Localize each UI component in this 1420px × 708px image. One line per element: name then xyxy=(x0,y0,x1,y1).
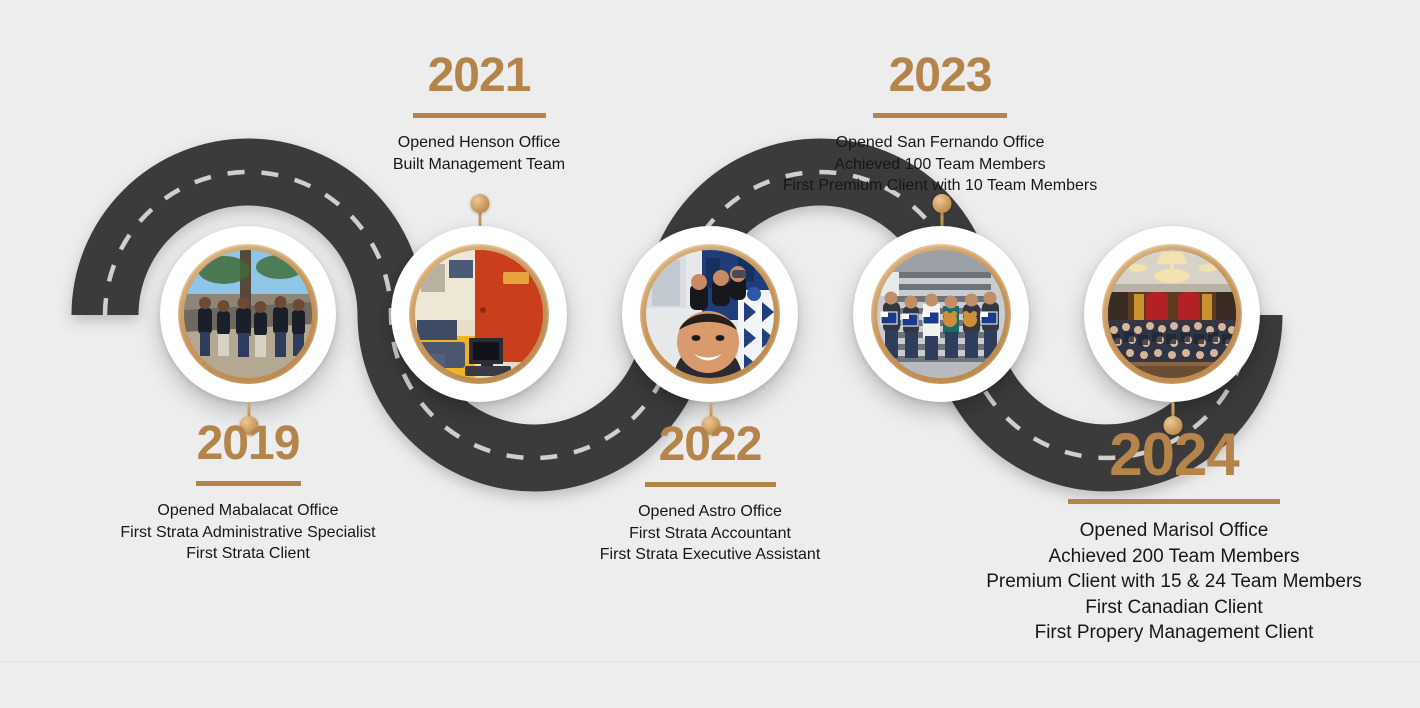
milestone-label-2021: 2021 Opened Henson Office Built Manageme… xyxy=(328,52,630,175)
milestone-node-2022 xyxy=(622,226,798,402)
year-underline-2021 xyxy=(413,113,546,118)
year-underline-2024 xyxy=(1068,499,1280,504)
bullet-item: First Premium Client with 10 Team Member… xyxy=(740,175,1140,197)
pin-connector-2021 xyxy=(470,194,489,226)
bullet-item: Built Management Team xyxy=(328,154,630,176)
bullets-2019: Opened Mabalacat Office First Strata Adm… xyxy=(73,500,423,565)
bullets-2024: Opened Marisol Office Achieved 200 Team … xyxy=(924,518,1420,646)
milestone-node-2024 xyxy=(1084,226,1260,402)
milestone-label-2019: 2019 Opened Mabalacat Office First Strat… xyxy=(73,420,423,565)
bullet-item: Achieved 100 Team Members xyxy=(740,154,1140,176)
milestone-photo-2023[interactable] xyxy=(877,250,1005,378)
milestone-node-2019 xyxy=(160,226,336,402)
milestone-photo-2019[interactable] xyxy=(184,250,312,378)
bullet-item: First Canadian Client xyxy=(924,595,1420,621)
bullet-item: Opened Marisol Office xyxy=(924,518,1420,544)
bullet-item: Opened San Fernando Office xyxy=(740,132,1140,154)
milestone-node-2023 xyxy=(853,226,1029,402)
milestone-photo-2024[interactable] xyxy=(1108,250,1236,378)
bullet-item: Opened Astro Office xyxy=(535,501,885,523)
bullets-2021: Opened Henson Office Built Management Te… xyxy=(328,132,630,175)
bullet-item: First Strata Executive Assistant xyxy=(535,544,885,566)
year-underline-2019 xyxy=(196,481,301,486)
year-underline-2023 xyxy=(873,113,1007,118)
year-2022: 2022 xyxy=(535,421,885,469)
year-2024: 2024 xyxy=(924,425,1420,485)
milestone-label-2024: 2024 Opened Marisol Office Achieved 200 … xyxy=(924,425,1420,646)
bullet-item: Opened Mabalacat Office xyxy=(73,500,423,522)
milestone-photo-2022[interactable] xyxy=(646,250,774,378)
year-2023: 2023 xyxy=(740,52,1140,100)
bullet-item: First Strata Client xyxy=(73,543,423,565)
bullet-item: First Propery Management Client xyxy=(924,620,1420,646)
bullet-item: First Strata Accountant xyxy=(535,523,885,545)
bullet-item: Achieved 200 Team Members xyxy=(924,544,1420,570)
year-2021: 2021 xyxy=(328,52,630,100)
bullet-item: Premium Client with 15 & 24 Team Members xyxy=(924,569,1420,595)
milestone-photo-2021[interactable] xyxy=(415,250,543,378)
milestone-label-2022: 2022 Opened Astro Office First Strata Ac… xyxy=(535,421,885,566)
bullets-2023: Opened San Fernando Office Achieved 100 … xyxy=(740,132,1140,197)
section-divider xyxy=(0,661,1420,662)
bullets-2022: Opened Astro Office First Strata Account… xyxy=(535,501,885,566)
timeline-infographic: 2019 Opened Mabalacat Office First Strat… xyxy=(0,0,1420,703)
pin-connector-2023 xyxy=(932,194,951,226)
bullet-item: First Strata Administrative Specialist xyxy=(73,522,423,544)
milestone-node-2021 xyxy=(391,226,567,402)
year-2019: 2019 xyxy=(73,420,423,468)
year-underline-2022 xyxy=(645,482,776,487)
milestone-label-2023: 2023 Opened San Fernando Office Achieved… xyxy=(740,52,1140,197)
bullet-item: Opened Henson Office xyxy=(328,132,630,154)
